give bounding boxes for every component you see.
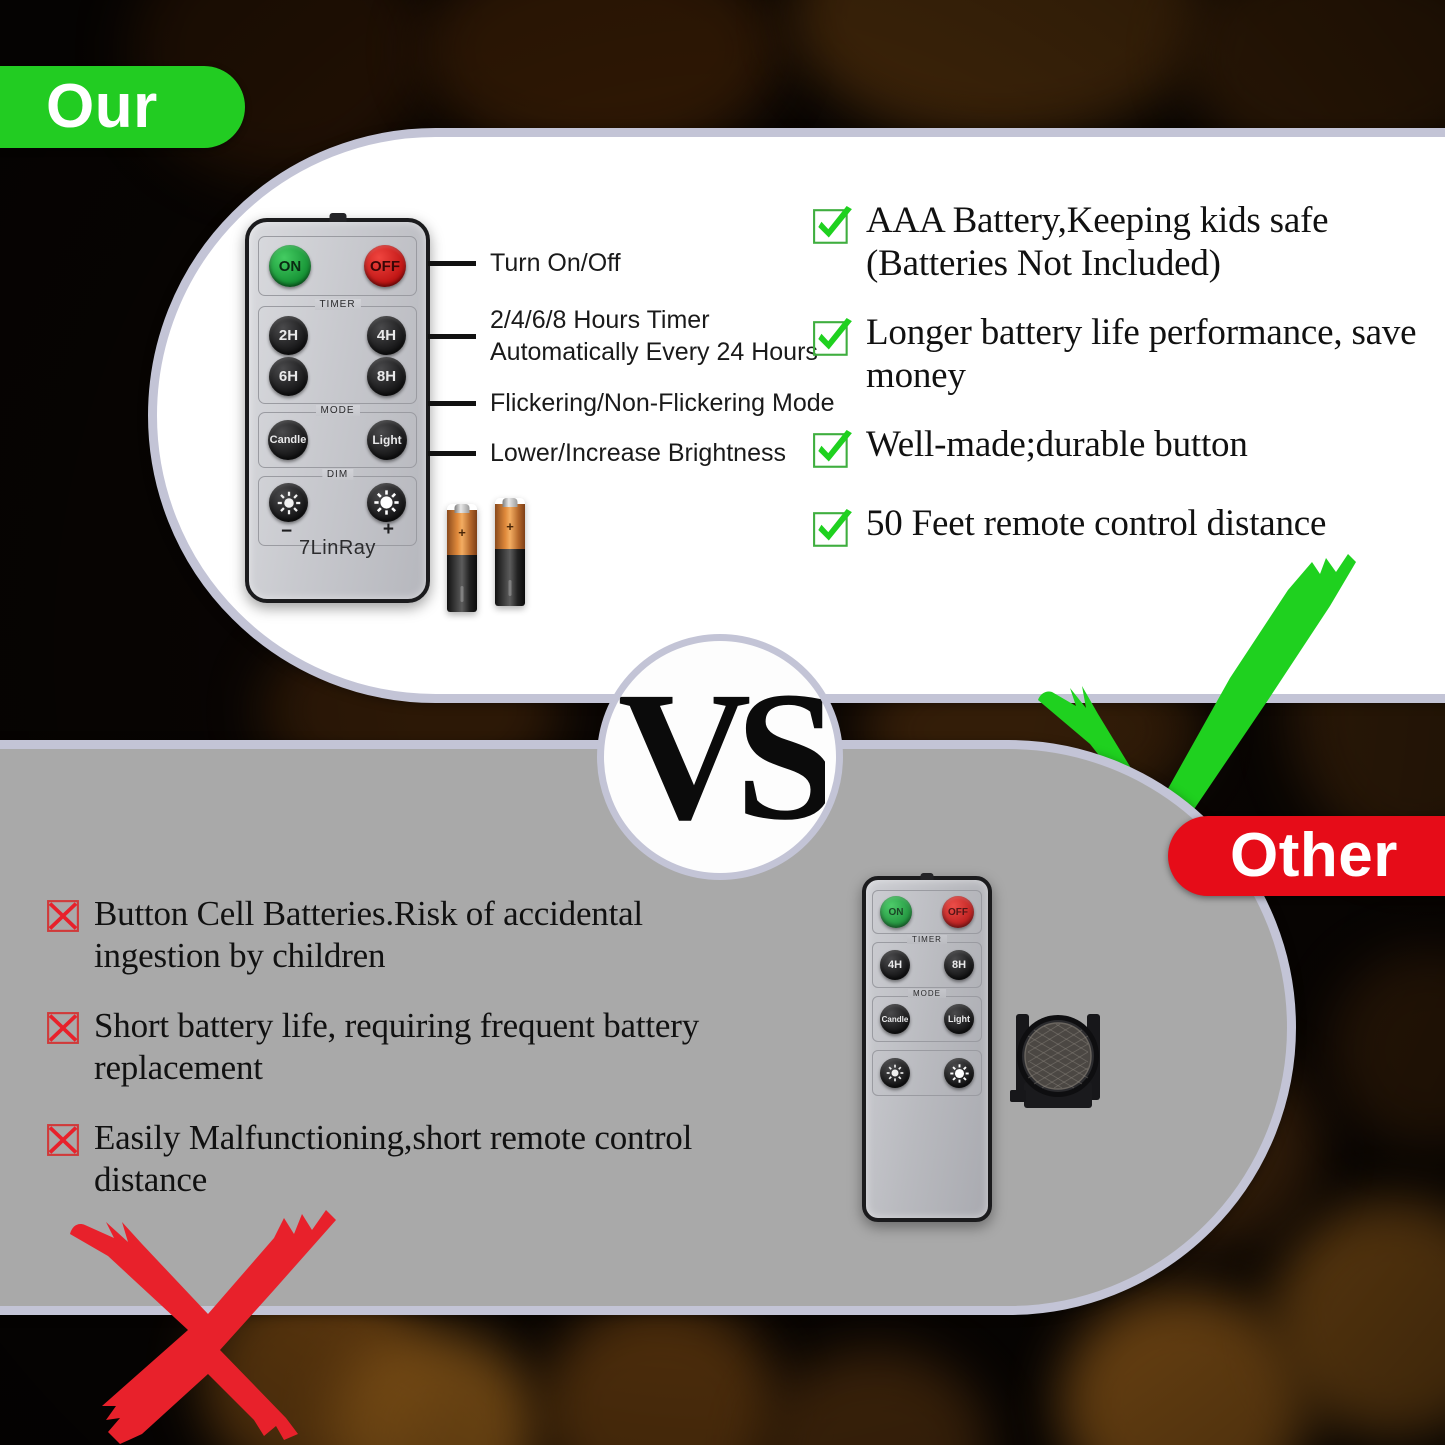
con-item: Easily Malfunctioning,short remote contr… [46,1117,766,1201]
our-feature-list: AAA Battery,Keeping kids safe (Batteries… [812,200,1442,582]
other-remote-control: ON OFF TIMER 4H 8H MODE Candle Light [862,876,992,1222]
vs-logo-icon: VS [615,662,825,852]
our-badge-label: Our [46,76,158,138]
dim-button-group: DIM [258,476,417,546]
con-item: Button Cell Batteries.Risk of accidental… [46,893,766,977]
feature-text: Well-made;durable button [866,424,1248,467]
aaa-battery: + [495,498,525,606]
callout-leader-line [428,451,476,456]
callout-turn-on-off: Turn On/Off [428,248,621,280]
our-badge: Our [0,66,245,148]
remote-brand-label: 7LinRay [249,537,426,560]
svg-text:VS: VS [618,662,825,852]
feature-text: Longer battery life performance, save mo… [866,312,1442,398]
dim-down-button[interactable] [269,483,308,522]
callout-mode: Flickering/Non-Flickering Mode [428,388,835,420]
sun-dim-icon [885,1063,905,1083]
infographic-canvas: ON OFF TIMER 2H 4H 6H 8H MODE Candle Lig… [0,0,1445,1445]
callout-label: Lower/Increase Brightness [490,438,786,470]
ir-emitter-icon [329,213,346,222]
timer-group-label: TIMER [314,299,360,310]
mode-group-label: MODE [316,405,360,416]
dim-up-button[interactable] [944,1058,974,1088]
on-button[interactable]: ON [880,896,912,928]
coin-cell-battery-module [1004,1006,1112,1114]
sun-bright-icon [373,489,400,516]
feature-item: 50 Feet remote control distance [812,503,1442,556]
dim-down-button[interactable] [880,1058,910,1088]
timer-group-label: TIMER [907,935,947,944]
mode-light-button[interactable]: Light [367,420,407,460]
on-button[interactable]: ON [269,245,311,287]
x-box-icon [46,1011,80,1050]
callout-label: Flickering/Non-Flickering Mode [490,388,835,420]
con-text: Short battery life, requiring frequent b… [94,1005,766,1089]
other-badge-label: Other [1230,825,1398,887]
check-box-icon [812,318,854,365]
timer-button-group: TIMER 2H 4H 6H 8H [258,306,417,404]
power-button-group: ON OFF [872,890,982,934]
mode-candle-button[interactable]: Candle [268,420,308,460]
feature-text: 50 Feet remote control distance [866,503,1326,546]
battery-body [495,549,525,606]
battery-plus-icon: + [495,520,525,533]
x-box-icon [46,899,80,938]
off-button[interactable]: OFF [364,245,406,287]
con-text: Easily Malfunctioning,short remote contr… [94,1117,766,1201]
power-button-group: ON OFF [258,236,417,296]
battery-stripe [461,586,464,602]
timer-4h-button[interactable]: 4H [367,316,406,355]
check-box-icon [812,509,854,556]
sun-bright-icon [949,1063,970,1084]
con-text: Button Cell Batteries.Risk of accidental… [94,893,766,977]
callout-leader-line [428,334,476,339]
battery-plus-icon: + [447,526,477,539]
timer-button-group: TIMER 4H 8H [872,942,982,988]
x-box-icon [46,1123,80,1162]
sun-dim-icon [276,490,302,516]
aaa-battery: + [447,504,477,612]
callout-timer: 2/4/6/8 Hours Timer Automatically Every … [428,305,818,368]
check-box-icon [812,206,854,253]
battery-cap-icon [503,498,518,507]
other-con-list: Button Cell Batteries.Risk of accidental… [46,893,766,1229]
check-box-icon [812,430,854,477]
feature-item: AAA Battery,Keeping kids safe (Batteries… [812,200,1442,286]
timer-2h-button[interactable]: 2H [269,316,308,355]
con-item: Short battery life, requiring frequent b… [46,1005,766,1089]
mode-group-label: MODE [908,989,946,998]
callout-brightness: Lower/Increase Brightness [428,438,786,470]
feature-text: AAA Battery,Keeping kids safe (Batteries… [866,200,1442,286]
timer-6h-button[interactable]: 6H [269,357,308,396]
callout-label: 2/4/6/8 Hours Timer Automatically Every … [490,305,818,368]
vs-badge: VS [597,634,843,880]
battery-stripe [509,580,512,596]
timer-8h-button[interactable]: 8H [944,950,974,980]
dim-group-label: DIM [322,469,353,480]
timer-8h-button[interactable]: 8H [367,357,406,396]
ir-emitter-icon [921,873,934,880]
mode-candle-button[interactable]: Candle [880,1004,910,1034]
our-remote-control: ON OFF TIMER 2H 4H 6H 8H MODE Candle Lig… [245,218,430,603]
mode-button-group: MODE Candle Light [872,996,982,1042]
other-badge: Other [1168,816,1445,896]
battery-cap-icon [455,504,470,513]
callout-leader-line [428,401,476,406]
mode-button-group: MODE Candle Light [258,412,417,468]
feature-item: Well-made;durable button [812,424,1442,477]
dim-button-group [872,1050,982,1096]
dim-up-button[interactable] [367,483,406,522]
battery-body [447,555,477,612]
mode-light-button[interactable]: Light [944,1004,974,1034]
off-button[interactable]: OFF [942,896,974,928]
timer-4h-button[interactable]: 4H [880,950,910,980]
callout-leader-line [428,261,476,266]
callout-label: Turn On/Off [490,248,621,280]
feature-item: Longer battery life performance, save mo… [812,312,1442,398]
